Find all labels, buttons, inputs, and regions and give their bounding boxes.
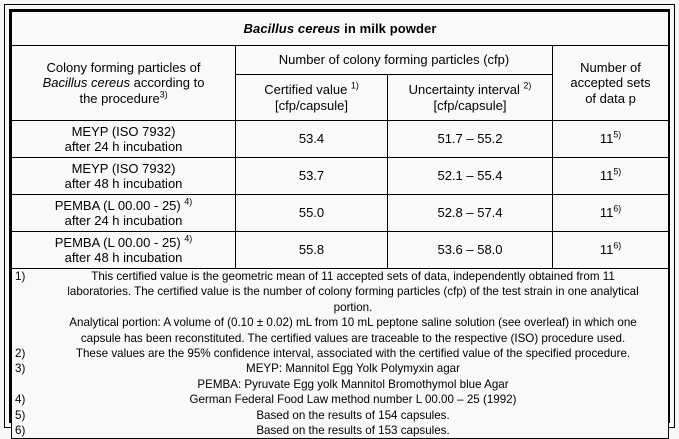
header-uncertainty-unit: [cfp/capsule] xyxy=(434,98,507,113)
header-cfp-group: Number of colony forming particles (cfp) xyxy=(236,46,553,75)
cell-procedure: MEYP (ISO 7932) after 24 h incubation xyxy=(12,121,236,158)
header-certified-unit: [cfp/capsule] xyxy=(275,98,348,113)
cell-certified-value: 55.8 xyxy=(236,232,388,269)
table-footnotes-row: 1)This certified value is the geometric … xyxy=(12,269,669,439)
procedure-name: PEMBA (L 00.00 - 25) xyxy=(55,235,181,250)
table-title-row: Bacillus cereus in milk powder xyxy=(12,12,669,46)
footnote-line: Analytical portion: A volume of (0.10 ± … xyxy=(38,315,668,330)
accepted-sets-value: 11 xyxy=(600,168,614,183)
header-procedure-footnote-ref: 3) xyxy=(160,89,168,99)
cell-uncertainty-interval: 52.1 – 55.4 xyxy=(388,158,553,195)
table-header-row-1: Colony forming particles of Bacillus cer… xyxy=(12,46,669,75)
accepted-sets-value: 11 xyxy=(600,242,614,257)
title-species-name: Bacillus cereus xyxy=(244,21,341,36)
footnote-item: 4)German Federal Food Law method number … xyxy=(12,392,668,407)
footnote-item: 1)This certified value is the geometric … xyxy=(12,269,668,346)
cell-certified-value: 53.7 xyxy=(236,158,388,195)
footnote-marker: 2) xyxy=(15,346,35,361)
procedure-incubation: after 48 h incubation xyxy=(65,250,183,265)
procedure-incubation: after 24 h incubation xyxy=(65,139,183,154)
procedure-name: PEMBA (L 00.00 - 25) xyxy=(55,198,181,213)
footnote-item: 3)MEYP: Mannitol Egg Yolk Polymyxin agar… xyxy=(12,361,668,392)
accepted-sets-footnote-ref: 6) xyxy=(613,204,621,214)
footnote-marker: 5) xyxy=(15,408,35,423)
certificate-table: Bacillus cereus in milk powder Colony fo… xyxy=(11,11,669,439)
header-accepted-sets-column: Number of accepted sets of data p xyxy=(553,46,669,121)
header-uncertainty-footnote-ref: 2) xyxy=(524,81,532,91)
certificate-table-frame: Bacillus cereus in milk powder Colony fo… xyxy=(9,9,670,423)
footnote-marker: 6) xyxy=(15,423,35,438)
header-uncertainty-label: Uncertainty interval xyxy=(409,82,520,97)
footnote-marker: 3) xyxy=(15,361,35,376)
accepted-sets-value: 11 xyxy=(600,131,614,146)
title-rest: in milk powder xyxy=(340,21,436,36)
header-certified-label: Certified value xyxy=(264,82,347,97)
cell-uncertainty-interval: 51.7 – 55.2 xyxy=(388,121,553,158)
table-title: Bacillus cereus in milk powder xyxy=(12,12,669,46)
header-certified-value: Certified value 1) [cfp/capsule] xyxy=(236,75,388,121)
cell-accepted-sets: 115) xyxy=(553,158,669,195)
procedure-incubation: after 24 h incubation xyxy=(65,213,183,228)
header-procedure-column: Colony forming particles of Bacillus cer… xyxy=(12,46,236,121)
procedure-name: MEYP (ISO 7932) xyxy=(72,124,176,139)
header-accepted-line3: of data p xyxy=(585,91,636,106)
table-row: PEMBA (L 00.00 - 25) 4) after 24 h incub… xyxy=(12,195,669,232)
footnote-line: portion. xyxy=(38,300,668,315)
footnote-line: This certified value is the geometric me… xyxy=(38,269,668,284)
cell-certified-value: 55.0 xyxy=(236,195,388,232)
table-row: MEYP (ISO 7932) after 48 h incubation 53… xyxy=(12,158,669,195)
procedure-footnote-ref: 4) xyxy=(184,233,192,243)
header-procedure-line3: the procedure xyxy=(79,91,159,106)
header-accepted-line2: accepted sets xyxy=(570,75,650,90)
cell-procedure: MEYP (ISO 7932) after 48 h incubation xyxy=(12,158,236,195)
cell-accepted-sets: 116) xyxy=(553,195,669,232)
footnote-marker: 4) xyxy=(15,392,35,407)
accepted-sets-footnote-ref: 6) xyxy=(613,241,621,251)
footnotes-list: 1)This certified value is the geometric … xyxy=(12,269,668,438)
header-certified-footnote-ref: 1) xyxy=(351,81,359,91)
cell-uncertainty-interval: 52.8 – 57.4 xyxy=(388,195,553,232)
footnote-item: 2)These values are the 95% confidence in… xyxy=(12,346,668,361)
footnote-line: Based on the results of 154 capsules. xyxy=(38,408,668,423)
footnote-item: 5)Based on the results of 154 capsules. xyxy=(12,408,668,423)
footnote-line: German Federal Food Law method number L … xyxy=(38,392,668,407)
cell-uncertainty-interval: 53.6 – 58.0 xyxy=(388,232,553,269)
accepted-sets-footnote-ref: 5) xyxy=(613,167,621,177)
footnote-marker: 1) xyxy=(15,269,35,284)
header-procedure-line1: Colony forming particles of xyxy=(47,60,201,75)
header-accepted-line1: Number of xyxy=(580,60,641,75)
page-outer-frame: Bacillus cereus in milk powder Colony fo… xyxy=(4,4,675,428)
cell-accepted-sets: 116) xyxy=(553,232,669,269)
accepted-sets-footnote-ref: 5) xyxy=(613,130,621,140)
footnote-line: laboratories. The certified value is the… xyxy=(38,284,668,299)
cell-accepted-sets: 115) xyxy=(553,121,669,158)
procedure-incubation: after 48 h incubation xyxy=(65,176,183,191)
footnote-line: PEMBA: Pyruvate Egg yolk Mannitol Bromot… xyxy=(38,377,668,392)
accepted-sets-value: 11 xyxy=(600,205,614,220)
table-row: MEYP (ISO 7932) after 24 h incubation 53… xyxy=(12,121,669,158)
footnote-line: MEYP: Mannitol Egg Yolk Polymyxin agar xyxy=(38,361,668,376)
footnote-line: capsule has been reconstituted. The cert… xyxy=(38,331,668,346)
cell-procedure: PEMBA (L 00.00 - 25) 4) after 24 h incub… xyxy=(12,195,236,232)
footnotes-cell: 1)This certified value is the geometric … xyxy=(12,269,669,439)
header-uncertainty-interval: Uncertainty interval 2) [cfp/capsule] xyxy=(388,75,553,121)
footnote-item: 6)Based on the results of 153 capsules. xyxy=(12,423,668,438)
cell-procedure: PEMBA (L 00.00 - 25) 4) after 48 h incub… xyxy=(12,232,236,269)
footnote-line: These values are the 95% confidence inte… xyxy=(38,346,668,361)
footnote-line: Based on the results of 153 capsules. xyxy=(38,423,668,438)
procedure-name: MEYP (ISO 7932) xyxy=(72,161,176,176)
table-row: PEMBA (L 00.00 - 25) 4) after 48 h incub… xyxy=(12,232,669,269)
header-procedure-species: Bacillus cereus xyxy=(43,75,130,90)
header-procedure-line2: according to xyxy=(130,75,204,90)
procedure-footnote-ref: 4) xyxy=(184,196,192,206)
cell-certified-value: 53.4 xyxy=(236,121,388,158)
